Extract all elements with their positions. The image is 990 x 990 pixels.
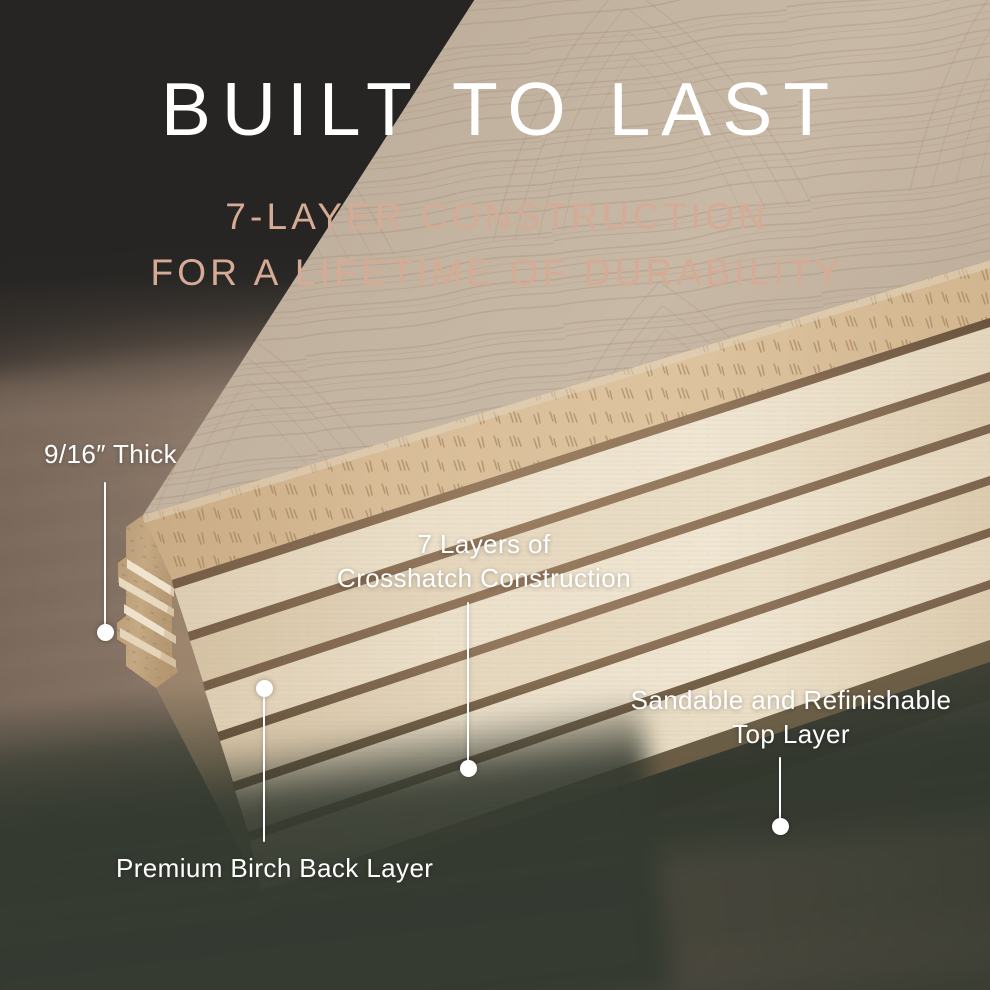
subtitle-line-1: 7-LAYER CONSTRUCTION: [0, 147, 990, 245]
infographic-canvas: BUILT TO LAST 7-LAYER CONSTRUCTION FOR A…: [0, 0, 990, 990]
callout-thickness-leader-dot: [97, 624, 114, 641]
callout-thickness-label: 9/16″ Thick: [44, 438, 177, 472]
page-title: BUILT TO LAST: [0, 0, 990, 147]
callout-birch-back-label: Premium Birch Back Layer: [116, 852, 433, 886]
callout-birch-back-leader-dot: [256, 680, 273, 697]
callout-top-layer-line-2: Top Layer: [732, 719, 850, 749]
callout-crosshatch-line-1: 7 Layers of: [417, 529, 550, 559]
header: BUILT TO LAST 7-LAYER CONSTRUCTION FOR A…: [0, 0, 990, 301]
callout-top-layer-line-1: Sandable and Refinishable: [631, 685, 952, 715]
callout-crosshatch-line-2: Crosshatch Construction: [337, 563, 631, 593]
callout-thickness-leader-line: [104, 482, 106, 628]
callout-top-layer-leader-dot: [772, 818, 789, 835]
callout-crosshatch-leader-line: [467, 602, 469, 764]
callout-top-layer-leader-line: [779, 757, 781, 823]
callout-crosshatch-leader-dot: [460, 760, 477, 777]
callout-crosshatch-label: 7 Layers of Crosshatch Construction: [334, 528, 634, 596]
callout-top-layer-label: Sandable and Refinishable Top Layer: [626, 684, 956, 752]
callout-birch-back-leader-line: [263, 692, 265, 842]
subtitle-line-2: FOR A LIFETIME OF DURABILITY: [0, 245, 990, 301]
